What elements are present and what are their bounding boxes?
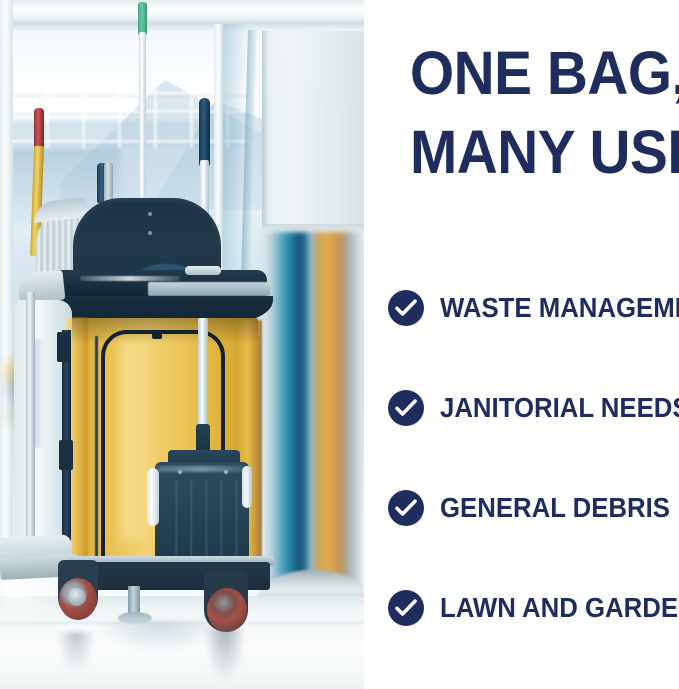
- product-feature-poster: ONE BAG, MANY USES. WASTE MANAGEMENT J: [0, 0, 679, 689]
- headline-line-1: ONE BAG,: [410, 36, 661, 111]
- cart-rivet-lower: [148, 231, 152, 235]
- dustpan-highlight: [158, 466, 244, 472]
- dustpan-rivet-left: [178, 470, 182, 474]
- reflective-column: [262, 232, 364, 612]
- window-mullion-top: [0, 0, 364, 24]
- cart-strap-lower: [59, 440, 73, 470]
- cart-rivet-upper: [148, 212, 152, 216]
- cart-left-post: [26, 292, 35, 562]
- check-circle-icon: [388, 390, 424, 426]
- check-circle-icon: [388, 490, 424, 526]
- headline: ONE BAG, MANY USES.: [410, 36, 679, 190]
- feature-label: WASTE MANAGEMENT: [440, 292, 679, 324]
- cart-shelf: [148, 282, 270, 296]
- feature-label: GENERAL DEBRIS: [440, 492, 670, 524]
- check-circle-icon: [388, 290, 424, 326]
- dustpan-handle-right: [242, 466, 252, 508]
- dustpan-handle-left: [147, 468, 159, 526]
- floor-reflection-left-wheel: [57, 632, 95, 672]
- cart-tray-highlight: [80, 276, 180, 281]
- check-circle-icon: [388, 590, 424, 626]
- dustpan-ribs: [163, 480, 241, 560]
- floor-reflection-right-wheel: [205, 628, 245, 680]
- feature-item-general-debris: GENERAL DEBRIS: [388, 472, 679, 544]
- green-pole-tip: [138, 2, 147, 36]
- navy-squeegee-head: [199, 98, 210, 168]
- dustpan-rivet-right: [224, 470, 228, 474]
- feature-label: JANITORIAL NEEDS: [440, 392, 679, 424]
- wall-panel-edge: [262, 0, 269, 232]
- headline-line-2: MANY USES.: [410, 115, 661, 190]
- content-panel: ONE BAG, MANY USES. WASTE MANAGEMENT J: [364, 0, 679, 689]
- window-mullion-left: [0, 0, 13, 560]
- caster-left-hub: [68, 588, 86, 606]
- feature-item-waste-management: WASTE MANAGEMENT: [388, 272, 679, 344]
- feature-item-janitorial-needs: JANITORIAL NEEDS: [388, 372, 679, 444]
- white-mop-handle: [198, 318, 208, 428]
- feature-item-lawn-and-garden: LAWN AND GARDEN: [388, 572, 679, 644]
- cart-strap-upper: [57, 332, 71, 362]
- window-mullion-top-secondary: [0, 22, 364, 31]
- feature-list: WASTE MANAGEMENT JANITORIAL NEEDS GENERA…: [388, 272, 679, 644]
- floor-reflection-cart: [100, 622, 220, 652]
- mop-handle-red-tip: [34, 108, 44, 150]
- interior-wall-panel: [262, 0, 364, 232]
- product-photo: [0, 0, 364, 689]
- small-grey-tool: [104, 162, 113, 204]
- bag-seam: [95, 336, 98, 568]
- cart-handle-bar: [185, 266, 221, 275]
- feature-label: LAWN AND GARDEN: [440, 592, 679, 624]
- bag-frame-tab: [152, 330, 162, 339]
